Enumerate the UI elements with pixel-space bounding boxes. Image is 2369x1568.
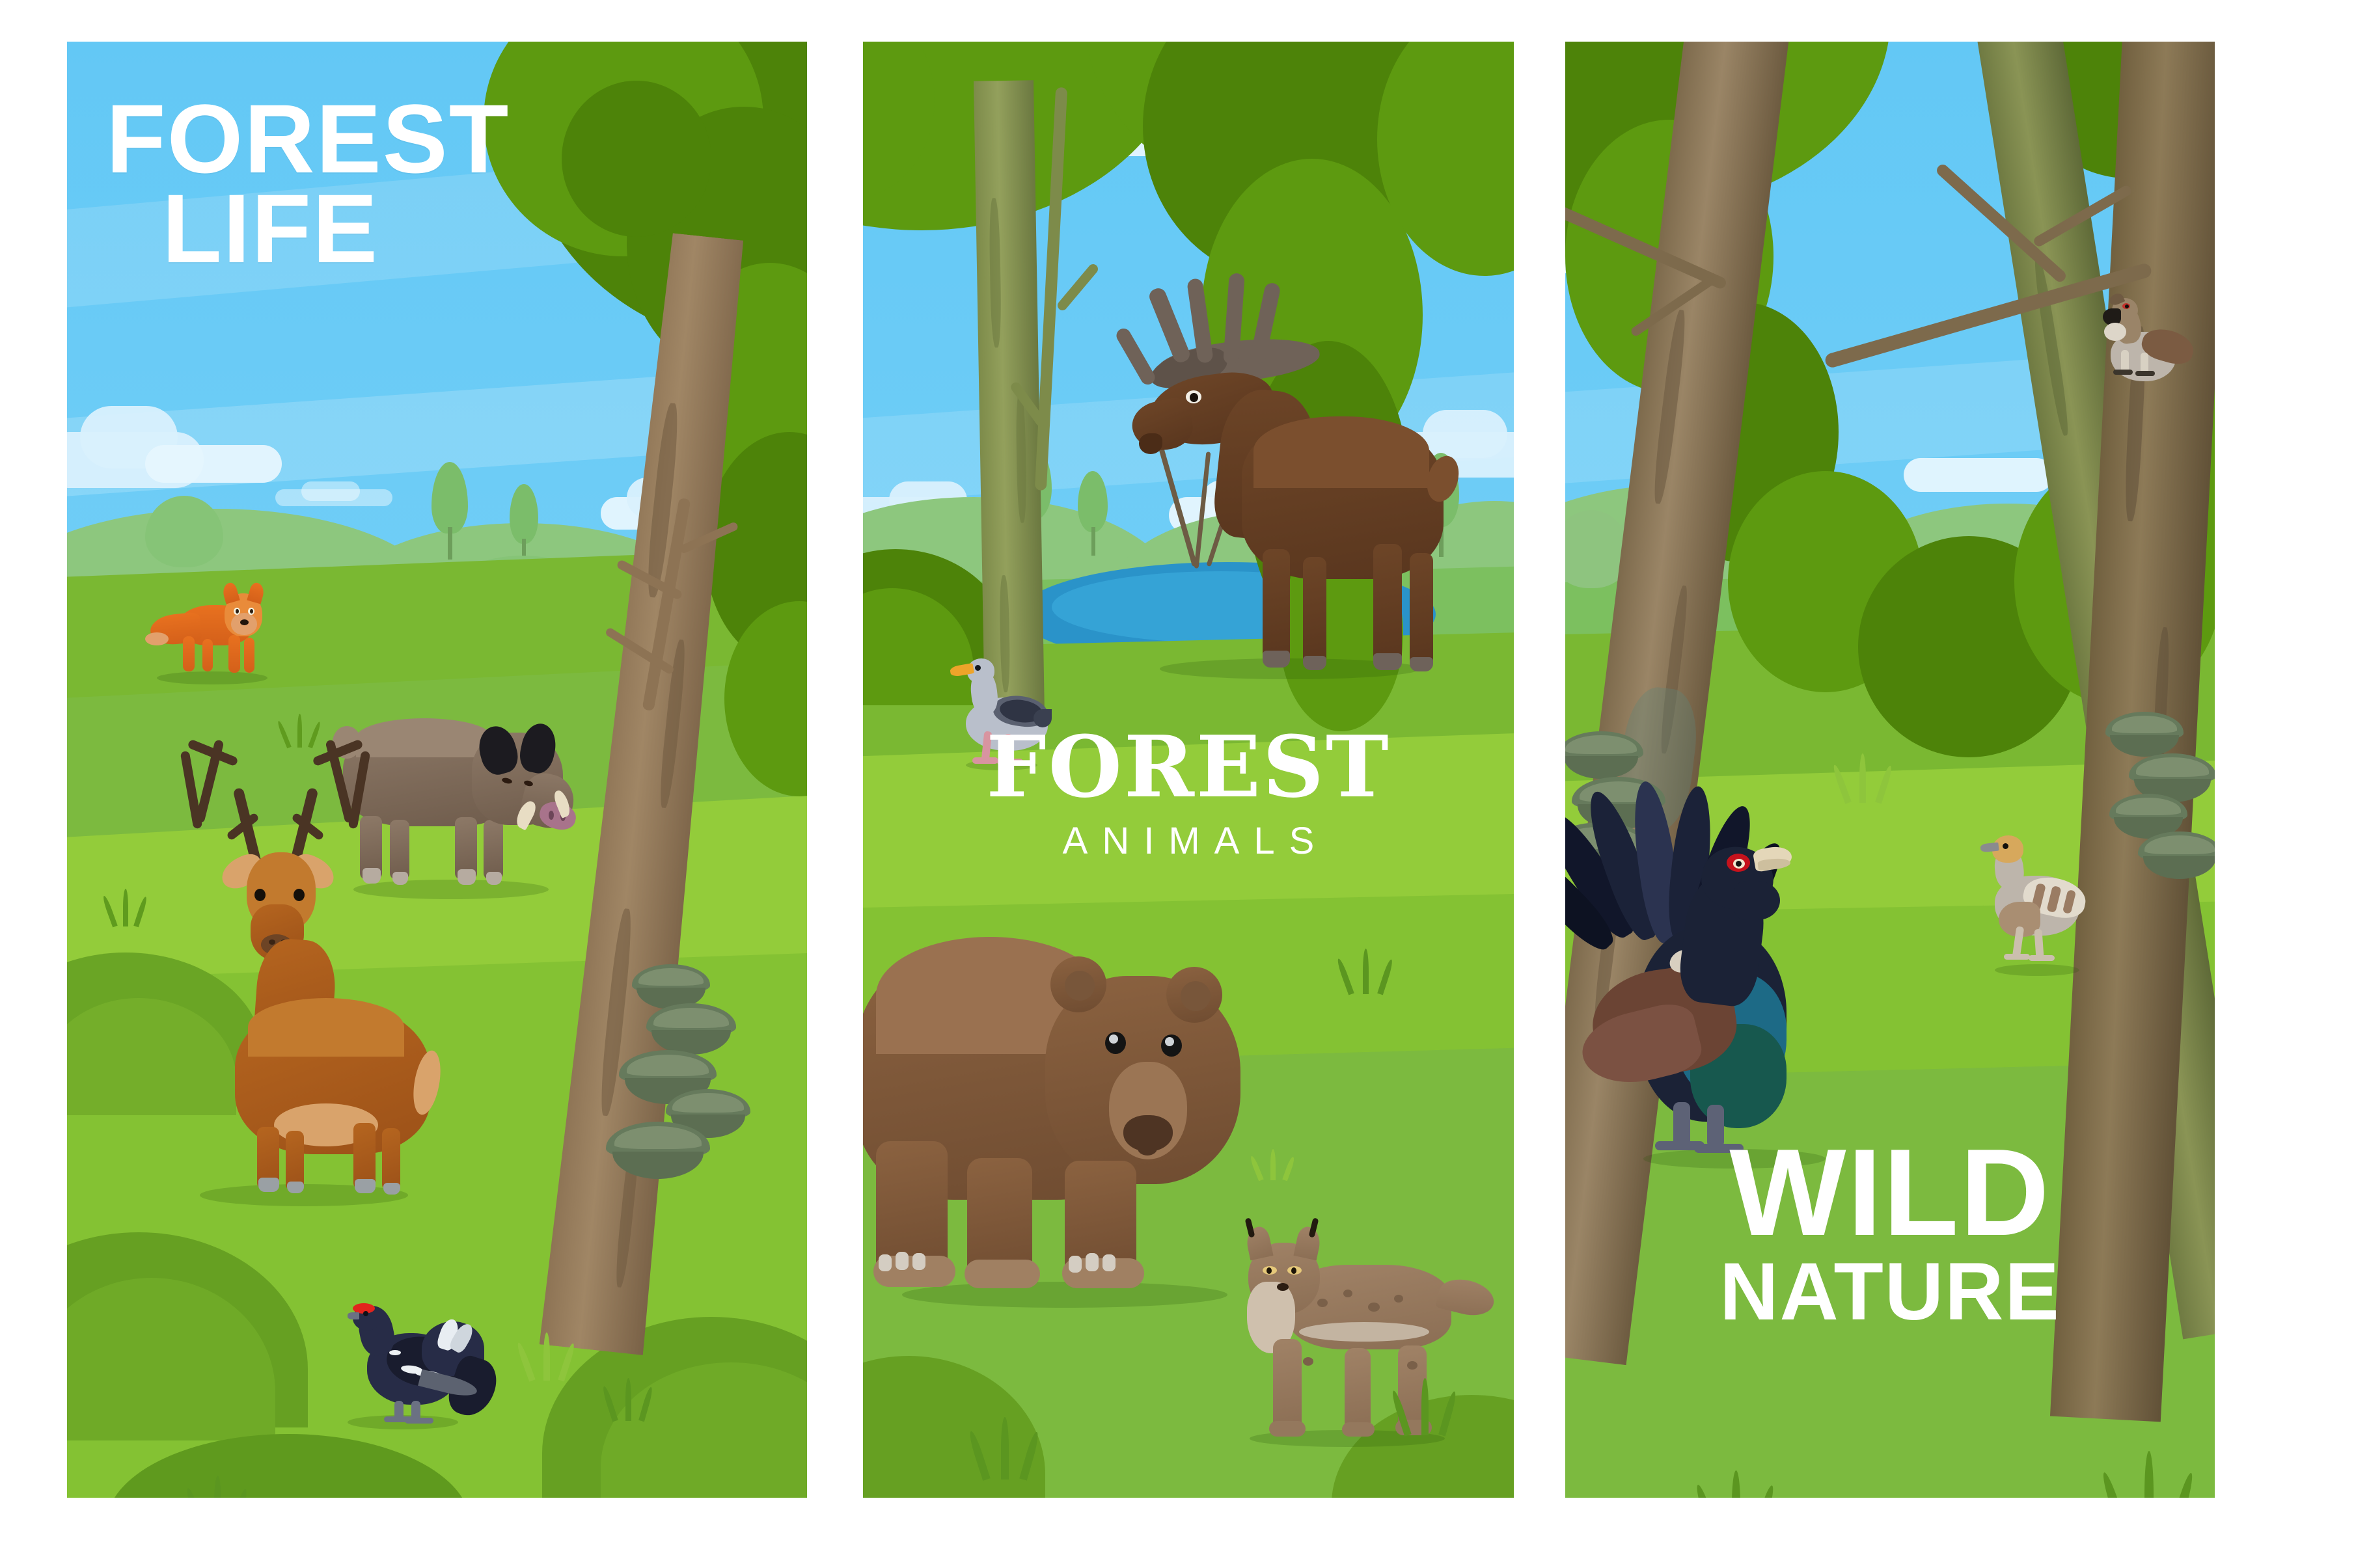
grass-tuft <box>1342 946 1401 994</box>
black-grouse[interactable] <box>324 1288 500 1437</box>
red-fox[interactable] <box>145 579 275 683</box>
grass-tuft <box>1397 1375 1462 1435</box>
banner-forest-animals[interactable]: FOREST ANIMALS <box>863 42 1514 1498</box>
grass-tuft <box>1839 751 1897 803</box>
grass-tuft <box>282 712 327 748</box>
grass-tuft <box>106 887 152 926</box>
grass-tuft <box>974 1414 1045 1480</box>
banner-forest-life[interactable]: FOREST LIFE <box>67 42 807 1498</box>
headline-line-2: LIFE <box>162 183 510 273</box>
background-tree <box>431 462 468 560</box>
headline-line-1: WILD <box>1565 1135 2215 1251</box>
background-tree <box>145 496 223 567</box>
headline-line-1: FOREST <box>106 94 510 183</box>
cloud <box>145 445 282 483</box>
headline-line-2: ANIMALS <box>863 822 1514 860</box>
bracket-fungus <box>2138 831 2215 881</box>
grass-tuft <box>2112 1447 2197 1498</box>
tree-branch <box>1565 211 1800 380</box>
dry-branch <box>601 497 750 777</box>
western-capercaillie[interactable] <box>1565 777 1891 1180</box>
red-deer-stag[interactable] <box>165 725 458 1206</box>
eurasian-lynx[interactable] <box>1234 1187 1507 1460</box>
poster-canvas: FOREST LIFE <box>0 0 2369 1568</box>
tree-branch <box>1019 87 1110 491</box>
banner-2-headline: FOREST ANIMALS <box>863 725 1514 860</box>
banner-wild-nature[interactable]: WILD NATURE <box>1565 42 2215 1498</box>
grass-tuft <box>607 1375 659 1421</box>
headline-line-1: FOREST <box>863 725 1514 809</box>
grass-tuft <box>1253 1148 1299 1180</box>
grass-tuft <box>191 1473 256 1498</box>
banner-1-headline: FOREST LIFE <box>106 94 510 273</box>
moose[interactable] <box>1123 263 1462 679</box>
bracket-fungus <box>646 1003 736 1057</box>
grass-tuft <box>523 1330 581 1381</box>
bracket-fungus <box>2105 712 2184 759</box>
hazel-grouse[interactable] <box>2086 282 2215 412</box>
headline-line-2: NATURE <box>1565 1251 2215 1332</box>
grey-partridge[interactable] <box>1969 816 2125 985</box>
grass-tuft <box>1702 1467 1780 1498</box>
bracket-fungus <box>606 1122 710 1182</box>
cloud <box>301 481 360 501</box>
banner-3-headline: WILD NATURE <box>1565 1135 2215 1332</box>
bracket-fungus <box>1565 731 1643 781</box>
